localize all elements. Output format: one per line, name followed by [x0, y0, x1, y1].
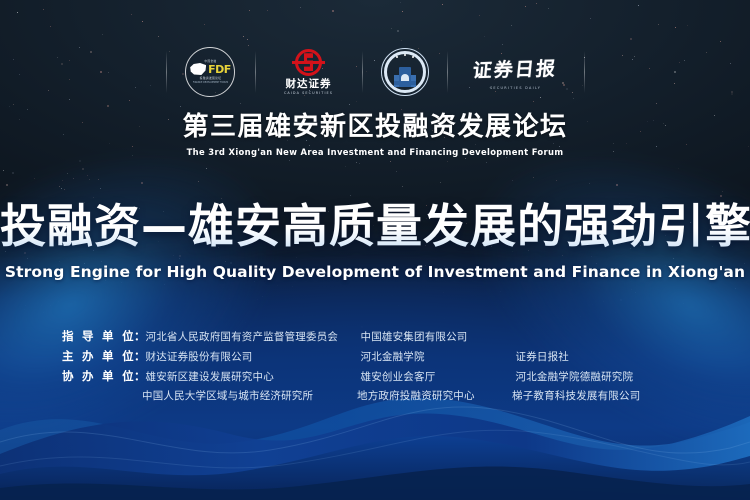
fdf-cn-bottom: 投融资发展论坛 — [200, 76, 222, 80]
university-building-icon — [391, 57, 419, 87]
forum-heading: 第三届雄安新区投融资发展论坛 The 3rd Xiong'an New Area… — [0, 106, 750, 157]
org-value: 雄安创业会客厅 — [361, 369, 516, 384]
org-value: 证券日报社 — [516, 349, 721, 364]
org-row: 主办单位：财达证券股份有限公司河北金融学院证券日报社 — [62, 348, 720, 368]
org-label: 主办单位 — [62, 348, 134, 364]
org-value: 梯子教育科技发展有限公司 — [512, 388, 720, 403]
hebei-finance-university-logo — [379, 46, 431, 98]
org-row: 协办单位：雄安新区建设发展研究中心雄安创业会客厅河北金融学院德融研究院 — [62, 368, 720, 388]
org-colon: ： — [134, 328, 146, 344]
logo-divider — [255, 51, 256, 93]
main-title-block: 投融资—雄安高质量发展的强劲引擎 Strong Engine for High … — [0, 190, 750, 281]
main-title-cn: 投融资—雄安高质量发展的强劲引擎 — [0, 190, 750, 256]
org-label: 指导单位 — [62, 328, 134, 344]
fdf-forum-logo: 中国金融 FDF 投融资发展论坛 FINANCE DEVELOPMENT FOR… — [183, 46, 239, 98]
org-value: 中国雄安集团有限公司 — [361, 329, 516, 344]
logo-divider — [362, 51, 363, 93]
caida-emblem-icon — [295, 49, 322, 76]
caida-cn-name: 财达证券 — [286, 79, 332, 90]
org-row: 中国人民大学区域与城市经济研究所地方政府投融资研究中心梯子教育科技发展有限公司 — [62, 388, 720, 408]
fdf-map-icon — [190, 63, 206, 75]
org-value: 河北金融学院德融研究院 — [516, 369, 721, 384]
fdf-abbr: FDF — [208, 65, 231, 75]
logo-divider — [584, 51, 585, 93]
fdf-en: FINANCE DEVELOPMENT FORUM — [193, 81, 228, 84]
org-value: 财达证券股份有限公司 — [146, 349, 361, 364]
forum-cn-title: 第三届雄安新区投融资发展论坛 — [0, 106, 750, 143]
org-row: 指导单位：河北省人民政府国有资产监督管理委员会中国雄安集团有限公司 — [62, 328, 720, 348]
org-value: 雄安新区建设发展研究中心 — [146, 369, 361, 384]
org-colon: ： — [134, 348, 146, 364]
caida-en-name: CAIDA SECURITIES — [284, 91, 333, 95]
securities-daily-cn: 证券日报 — [472, 53, 559, 82]
forum-poster: 中国金融 FDF 投融资发展论坛 FINANCE DEVELOPMENT FOR… — [0, 0, 750, 500]
logo-divider — [447, 51, 448, 93]
forum-en-title: The 3rd Xiong'an New Area Investment and… — [0, 147, 750, 157]
caida-securities-logo: 财达证券 CAIDA SECURITIES — [272, 46, 346, 98]
logo-divider — [166, 51, 167, 93]
securities-daily-en: SECURITIES DAILY — [490, 86, 541, 90]
organization-list: 指导单位：河北省人民政府国有资产监督管理委员会中国雄安集团有限公司主办单位：财达… — [62, 328, 720, 408]
org-label: 协办单位 — [62, 368, 134, 384]
org-value: 河北省人民政府国有资产监督管理委员会 — [146, 329, 361, 344]
org-value: 河北金融学院 — [361, 349, 516, 364]
securities-daily-logo: 证券日报 SECURITIES DAILY — [464, 46, 568, 98]
main-title-en: Strong Engine for High Quality Developme… — [0, 263, 750, 281]
org-value: 中国人民大学区域与城市经济研究所 — [142, 388, 357, 403]
org-value: 地方政府投融资研究中心 — [357, 388, 512, 403]
org-colon: ： — [134, 368, 146, 384]
sponsor-logo-row: 中国金融 FDF 投融资发展论坛 FINANCE DEVELOPMENT FOR… — [0, 44, 750, 100]
